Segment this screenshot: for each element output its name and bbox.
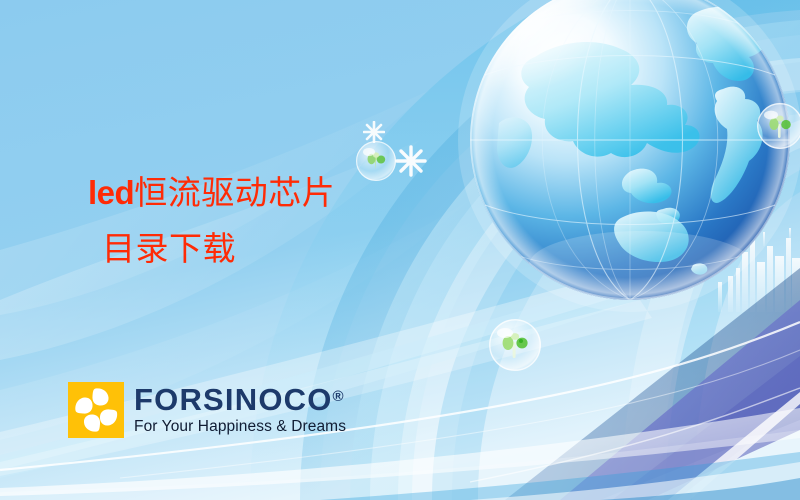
four-petal-pinwheel-icon — [68, 382, 124, 438]
bubble-lower — [488, 318, 542, 372]
headline-line-2: 目录下载 — [88, 221, 335, 277]
brand-name-text: FORSINOCO — [134, 382, 333, 417]
brand-name: FORSINOCO® — [134, 381, 346, 416]
headline-cjk-part: 恒流驱动芯片 — [134, 173, 335, 212]
headline-latin-part: led — [88, 174, 134, 211]
company-logo: FORSINOCO® For Your Happiness & Dreams — [68, 382, 346, 438]
banner-canvas: led恒流驱动芯片 目录下载 FORSINOCO® — [0, 0, 800, 500]
sparkle-large-icon — [395, 145, 427, 177]
page-title: led恒流驱动芯片 目录下载 — [88, 165, 335, 277]
registered-trademark-icon: ® — [333, 388, 344, 405]
earth-globe-icon — [455, 0, 800, 315]
bubble-left — [355, 140, 397, 182]
brand-tagline: For Your Happiness & Dreams — [134, 418, 346, 436]
bubble-right — [756, 102, 800, 150]
